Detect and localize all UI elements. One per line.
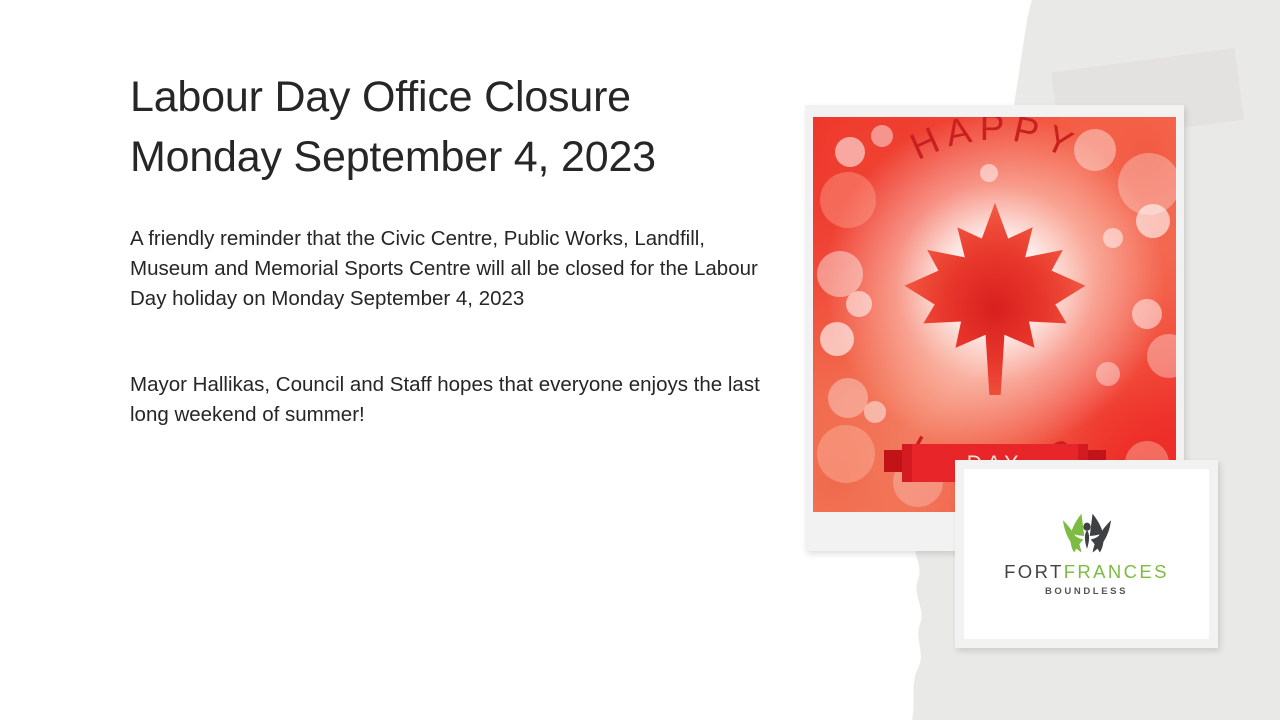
- slide-text-column: Labour Day Office Closure Monday Septemb…: [130, 68, 770, 430]
- mayor-message-paragraph: Mayor Hallikas, Council and Staff hopes …: [130, 370, 770, 430]
- logo-word-fort: FORT: [1004, 561, 1064, 582]
- logo-word-frances: FRANCES: [1064, 561, 1169, 582]
- card-line-happy: HAPPY: [904, 117, 1085, 168]
- fort-frances-butterfly-icon: [1059, 511, 1115, 559]
- logo-inner-panel: FORTFRANCES BOUNDLESS: [964, 469, 1209, 639]
- page-title: Labour Day Office Closure Monday Septemb…: [130, 68, 770, 188]
- svg-text:HAPPY: HAPPY: [904, 117, 1085, 168]
- slide-canvas: Labour Day Office Closure Monday Septemb…: [0, 0, 1280, 720]
- fort-frances-logo-card: FORTFRANCES BOUNDLESS: [955, 460, 1218, 648]
- logo-tagline: BOUNDLESS: [1045, 586, 1128, 597]
- labour-day-card-image: HAPPY LABOUR DAY: [813, 117, 1176, 512]
- closure-notice-paragraph: A friendly reminder that the Civic Centr…: [130, 224, 770, 314]
- logo-wordmark: FORTFRANCES: [1004, 563, 1169, 582]
